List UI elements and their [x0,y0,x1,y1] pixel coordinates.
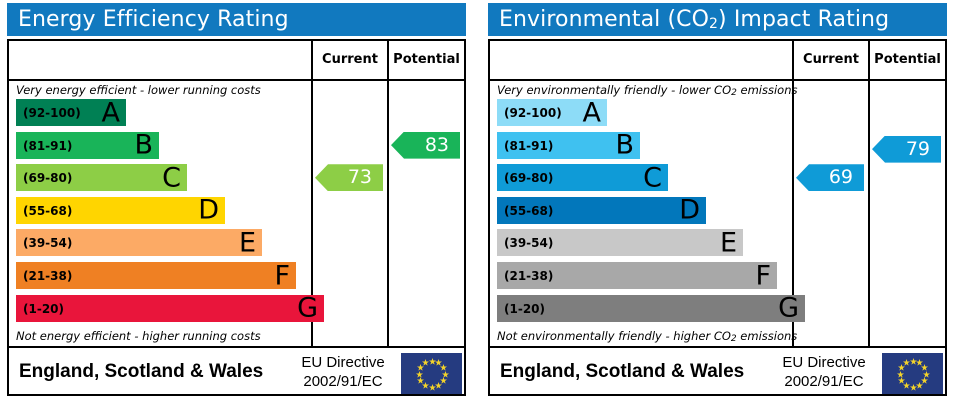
band-e: (39-54)E [16,229,262,256]
footer-region-label: England, Scotland & Wales [19,348,263,396]
directive-line-1: EU Directive [782,354,865,371]
band-d: (55-68)D [497,197,706,224]
header-divider [9,79,464,81]
column-header-potential: Potential [389,41,464,79]
environmental-impact-chart: Environmental (CO2) Impact Rating Curren… [481,0,951,404]
chart-footer: England, Scotland & Wales EU Directive 2… [9,348,464,396]
epc-charts-page: Energy Efficiency Rating Current Potenti… [0,0,957,404]
band-range-label: (39-54) [23,229,72,256]
band-range-label: (1-20) [23,295,64,322]
caption-bottom-text: Not environmentally friendly - higher CO [497,329,731,343]
band-letter-label: B [134,132,153,159]
band-c: (69-80)C [16,164,187,191]
column-header-potential: Potential [870,41,945,79]
directive-line-1: EU Directive [301,354,384,371]
potential-column-divider [868,41,870,346]
band-letter-label: D [679,197,700,224]
band-letter-label: F [274,262,290,289]
caption-top-text: Very environmentally friendly - lower CO [497,83,731,97]
band-range-label: (81-91) [23,132,72,159]
band-a: (92-100)A [16,99,126,126]
band-b: (81-91)B [16,132,159,159]
eu-flag-icon [882,353,943,394]
band-range-label: (21-38) [504,262,553,289]
footer-directive-label: EU Directive 2002/91/EC [288,353,398,391]
title-text: Energy Efficiency Rating [18,7,289,32]
band-range-label: (55-68) [504,197,553,224]
co2-band-list: (92-100)A(81-91)B(69-80)C(55-68)D(39-54)… [490,99,792,329]
environmental-impact-title: Environmental (CO2) Impact Rating [488,3,947,36]
band-letter-label: F [755,262,771,289]
footer-directive-label: EU Directive 2002/91/EC [769,353,879,391]
energy-efficiency-chart: Energy Efficiency Rating Current Potenti… [0,0,470,404]
band-b: (81-91)B [497,132,640,159]
band-range-label: (1-20) [504,295,545,322]
band-d: (55-68)D [16,197,225,224]
caption-bottom-suffix: emissions [737,329,798,343]
band-range-label: (69-80) [23,164,72,191]
band-letter-label: A [583,99,601,126]
column-header-current: Current [794,41,868,79]
band-letter-label: G [778,295,799,322]
band-range-label: (81-91) [504,132,553,159]
caption-bottom-text: Not energy efficient - higher running co… [16,329,261,343]
band-f: (21-38)F [497,262,777,289]
directive-line-2: 2002/91/EC [303,373,382,390]
current-rating-arrow: 69 [796,164,864,191]
environmental-impact-frame: Current Potential Very environmentally f… [488,39,947,396]
band-c: (69-80)C [497,164,668,191]
title-text: Environmental (CO [499,7,709,32]
band-letter-label: B [615,132,634,159]
caption-top: Very energy efficient - lower running co… [16,83,261,98]
band-range-label: (92-100) [504,99,562,126]
potential-rating-arrow: 79 [872,136,941,163]
band-range-label: (21-38) [23,262,72,289]
band-range-label: (92-100) [23,99,81,126]
band-g: (1-20)G [497,295,805,322]
header-divider [490,79,945,81]
band-letter-label: D [198,197,219,224]
caption-top-text: Very energy efficient - lower running co… [16,83,261,97]
band-f: (21-38)F [16,262,296,289]
caption-bottom: Not energy efficient - higher running co… [16,329,261,344]
band-range-label: (69-80) [504,164,553,191]
potential-rating-arrow: 83 [391,132,460,159]
potential-column-divider [387,41,389,346]
band-letter-label: C [643,164,662,191]
energy-efficiency-title: Energy Efficiency Rating [7,3,466,36]
energy-efficiency-frame: Current Potential Very energy efficient … [7,39,466,396]
directive-line-2: 2002/91/EC [784,373,863,390]
band-range-label: (55-68) [23,197,72,224]
band-range-label: (39-54) [504,229,553,256]
chart-footer: England, Scotland & Wales EU Directive 2… [490,348,945,396]
band-letter-label: C [162,164,181,191]
current-rating-arrow: 73 [315,164,383,191]
caption-bottom: Not environmentally friendly - higher CO… [497,329,797,344]
eu-flag-icon [401,353,462,394]
band-letter-label: E [239,229,256,256]
caption-top: Very environmentally friendly - lower CO… [497,83,797,98]
band-letter-label: G [297,295,318,322]
band-letter-label: E [720,229,737,256]
title-suffix: ) Impact Rating [718,7,889,32]
column-header-current: Current [313,41,387,79]
energy-band-list: (92-100)A(81-91)B(69-80)C(55-68)D(39-54)… [9,99,311,329]
footer-region-label: England, Scotland & Wales [500,348,744,396]
band-g: (1-20)G [16,295,324,322]
band-a: (92-100)A [497,99,607,126]
caption-top-suffix: emissions [737,83,798,97]
title-subscript: 2 [709,16,718,32]
band-e: (39-54)E [497,229,743,256]
band-letter-label: A [102,99,120,126]
